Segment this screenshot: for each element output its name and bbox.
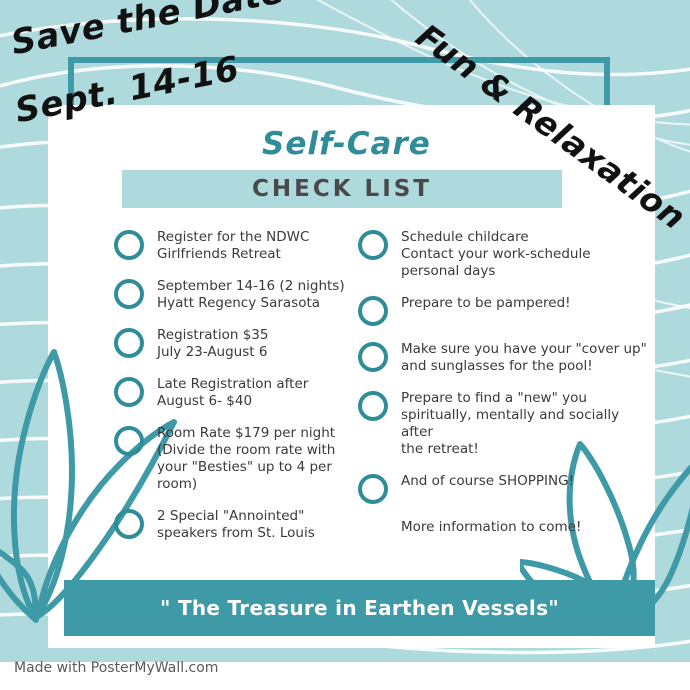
checklist-item-label: Make sure you have your "cover up" and s… (401, 340, 647, 375)
checklist-item[interactable]: More information to come! (358, 518, 648, 550)
checklist-column-right: Schedule childcare Contact your work-sch… (358, 228, 648, 564)
checklist-column-left: Register for the NDWC Girlfriends Retrea… (114, 228, 354, 556)
poster-credit: Made with PosterMyWall.com (14, 660, 218, 676)
checklist-item[interactable]: Register for the NDWC Girlfriends Retrea… (114, 228, 354, 263)
checklist-item[interactable]: September 14-16 (2 nights) Hyatt Regency… (114, 277, 354, 312)
checkbox-circle-icon[interactable] (114, 377, 144, 407)
script-title: Self-Care (262, 126, 431, 162)
checklist-item[interactable]: And of course SHOPPING! (358, 472, 648, 504)
checkbox-circle-icon[interactable] (358, 474, 388, 504)
checklist-item[interactable]: Make sure you have your "cover up" and s… (358, 340, 648, 375)
checklist-item-label: And of course SHOPPING! (401, 472, 574, 490)
checklist-item-label: September 14-16 (2 nights) Hyatt Regency… (157, 277, 345, 312)
checklist-item[interactable]: Prepare to find a "new" you spiritually,… (358, 389, 648, 458)
checklist-item-label: Register for the NDWC Girlfriends Retrea… (157, 228, 309, 263)
theme-banner: " The Treasure in Earthen Vessels" (64, 580, 655, 636)
theme-banner-text: " The Treasure in Earthen Vessels" (64, 580, 655, 636)
checkbox-circle-icon[interactable] (114, 328, 144, 358)
checkbox-circle-icon[interactable] (358, 296, 388, 326)
checkbox-circle-icon[interactable] (114, 426, 144, 456)
checkbox-circle-icon[interactable] (358, 342, 388, 372)
checklist-item-label: Room Rate $179 per night (Divide the roo… (157, 424, 335, 493)
checklist-item[interactable]: Room Rate $179 per night (Divide the roo… (114, 424, 354, 493)
checklist-item-label: 2 Special "Annointed" speakers from St. … (157, 507, 315, 542)
checklist-item[interactable]: Late Registration after August 6- $40 (114, 375, 354, 410)
checklist-item-label: Prepare to find a "new" you spiritually,… (401, 389, 648, 458)
checkbox-circle-icon[interactable] (358, 230, 388, 260)
poster-canvas: Self-Care CHECK LIST Save the Date Sept.… (0, 0, 690, 690)
checklist-item[interactable]: 2 Special "Annointed" speakers from St. … (114, 507, 354, 542)
checklist-item-label: Schedule childcare Contact your work-sch… (401, 228, 591, 280)
checklist-item-label: Prepare to be pampered! (401, 294, 571, 312)
checklist-item-label: Late Registration after August 6- $40 (157, 375, 308, 410)
checkbox-circle-icon[interactable] (114, 230, 144, 260)
check-list-band: CHECK LIST (122, 170, 562, 208)
checklist-item[interactable]: Prepare to be pampered! (358, 294, 648, 326)
checklist-item-label: Registration $35 July 23-August 6 (157, 326, 268, 361)
checklist-item[interactable]: Schedule childcare Contact your work-sch… (358, 228, 648, 280)
checklist-item[interactable]: Registration $35 July 23-August 6 (114, 326, 354, 361)
check-list-title: CHECK LIST (122, 170, 562, 208)
checklist-item-label: More information to come! (401, 518, 581, 536)
checkbox-circle-icon[interactable] (114, 509, 144, 539)
checkbox-circle-icon[interactable] (114, 279, 144, 309)
checkbox-circle-icon[interactable] (358, 391, 388, 421)
